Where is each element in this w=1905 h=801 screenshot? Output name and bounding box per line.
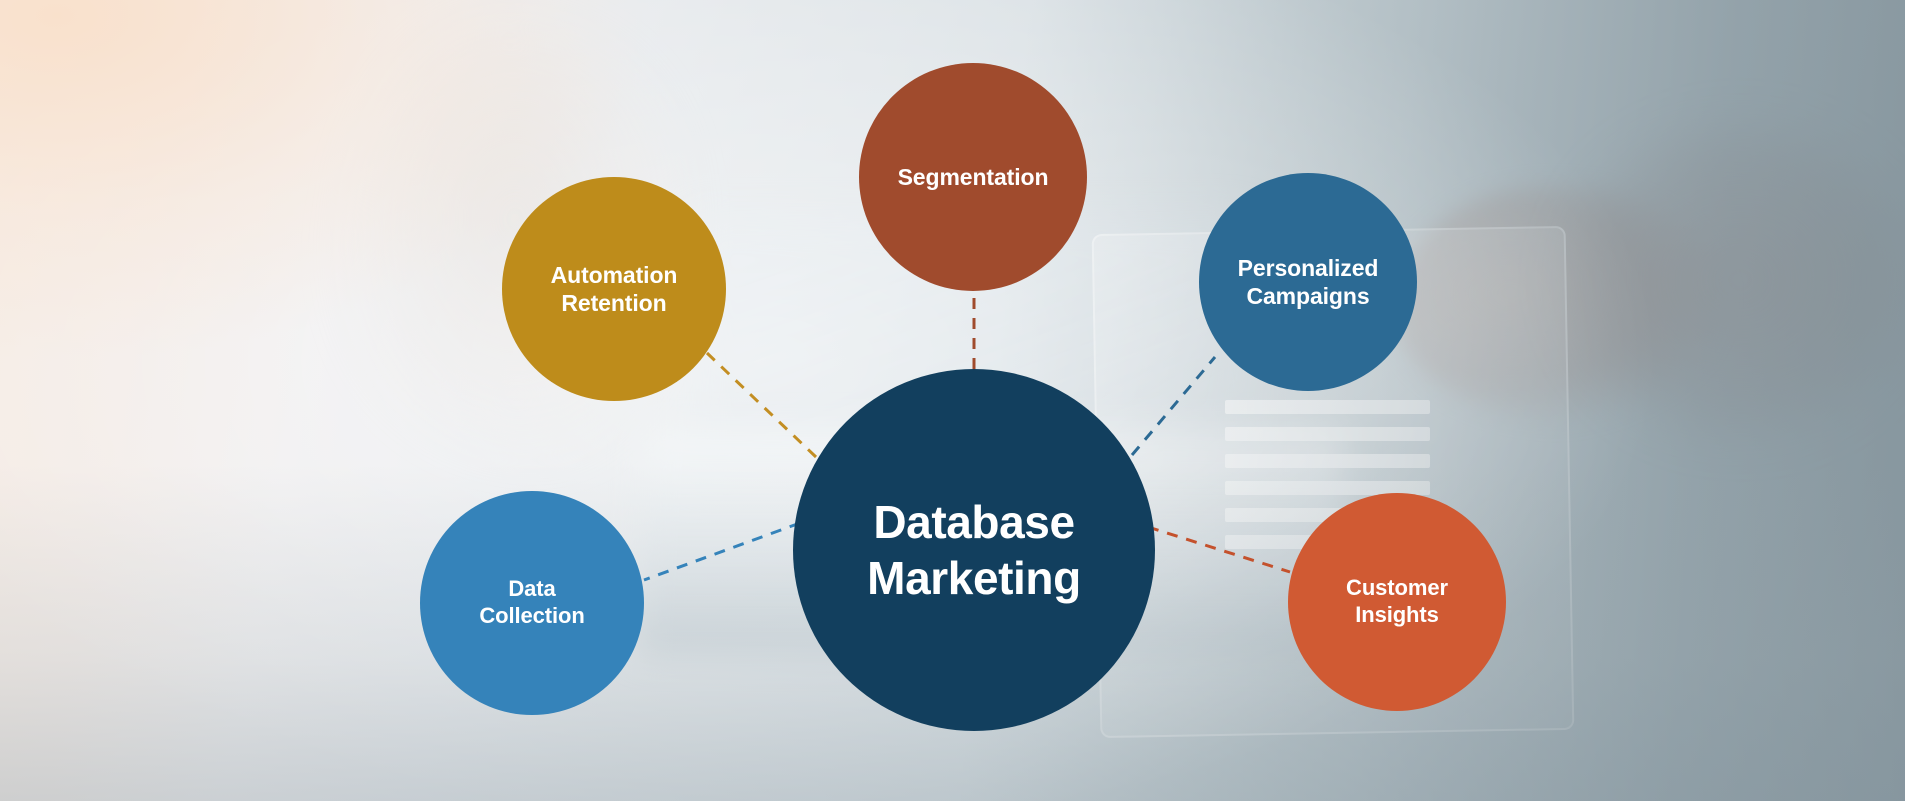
node-automation-retention-label-line2: Retention	[561, 290, 666, 316]
node-segmentation-label-line1: Segmentation	[898, 164, 1049, 190]
node-automation-retention[interactable]: Automation Retention	[502, 177, 726, 401]
node-automation-retention-label: Automation Retention	[541, 261, 688, 317]
node-database-marketing[interactable]: Database Marketing	[793, 369, 1155, 731]
diagram-canvas: Database Marketing Segmentation Automati…	[0, 0, 1905, 801]
node-automation-retention-label-line1: Automation	[551, 262, 678, 288]
node-data-collection[interactable]: Data Collection	[420, 491, 644, 715]
node-personalized-campaigns-label: Personalized Campaigns	[1228, 254, 1389, 310]
node-data-collection-label-line1: Data	[508, 576, 555, 601]
node-customer-insights-label: Customer Insights	[1336, 575, 1458, 629]
node-personalized-campaigns-label-line2: Campaigns	[1246, 283, 1369, 309]
node-customer-insights[interactable]: Customer Insights	[1288, 493, 1506, 711]
node-database-marketing-label-line2: Marketing	[867, 552, 1081, 604]
node-segmentation-label: Segmentation	[888, 163, 1059, 191]
node-customer-insights-label-line1: Customer	[1346, 575, 1448, 600]
node-database-marketing-label: Database Marketing	[857, 494, 1091, 606]
node-data-collection-label: Data Collection	[469, 576, 594, 630]
node-personalized-campaigns-label-line1: Personalized	[1238, 255, 1379, 281]
node-data-collection-label-line2: Collection	[479, 603, 584, 628]
node-customer-insights-label-line2: Insights	[1355, 602, 1439, 627]
node-database-marketing-label-line1: Database	[873, 496, 1074, 548]
node-personalized-campaigns[interactable]: Personalized Campaigns	[1199, 173, 1417, 391]
node-segmentation[interactable]: Segmentation	[859, 63, 1087, 291]
